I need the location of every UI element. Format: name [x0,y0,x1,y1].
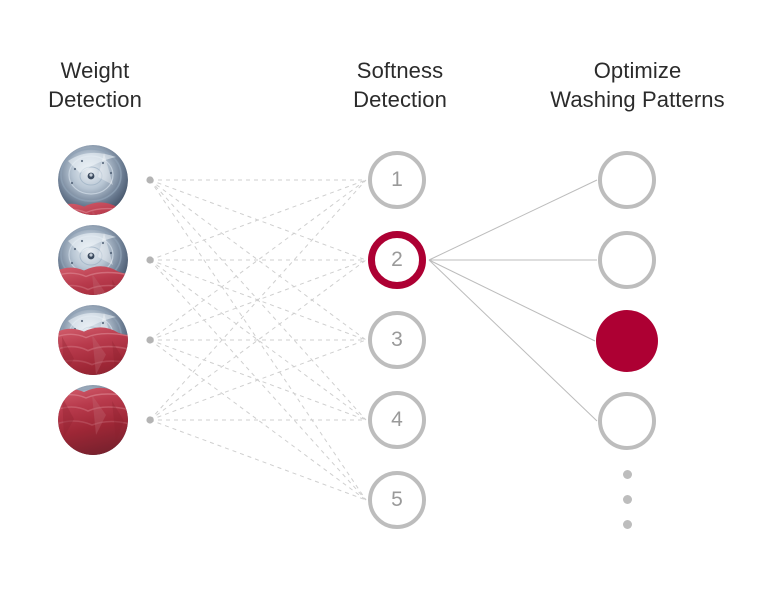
output-node-2[interactable] [598,231,656,289]
hidden-to-output-edges [429,180,597,421]
input-thumbnail-1 [58,145,128,215]
input-thumbnail-2 [58,225,128,295]
more-dot-1 [623,470,632,479]
output-node-4[interactable] [598,392,656,450]
more-dot-2 [623,495,632,504]
washing-drum-image-1 [58,145,128,215]
input-thumbnail-3 [58,305,128,375]
hidden-node-label: 4 [391,408,403,432]
washing-drum-image-4 [58,385,128,455]
hidden-node-label: 3 [391,328,403,352]
output-node-3-selected[interactable] [596,310,658,372]
hidden-node-5[interactable]: 5 [368,471,426,529]
input-thumbnail-4 [58,385,128,455]
washing-drum-image-2 [58,225,128,295]
more-dot-3 [623,520,632,529]
hidden-node-label: 2 [391,248,403,272]
hidden-node-1[interactable]: 1 [368,151,426,209]
hidden-node-label: 5 [391,488,403,512]
diagram-canvas: Weight Detection Softness Detection Opti… [0,0,768,600]
input-to-hidden-edges [150,180,366,500]
hidden-node-3[interactable]: 3 [368,311,426,369]
hidden-node-label: 1 [391,168,403,192]
edge-origin-dots [146,176,153,423]
hidden-node-2[interactable]: 2 [368,231,426,289]
output-node-1[interactable] [598,151,656,209]
hidden-node-4[interactable]: 4 [368,391,426,449]
washing-drum-image-3 [58,305,128,375]
